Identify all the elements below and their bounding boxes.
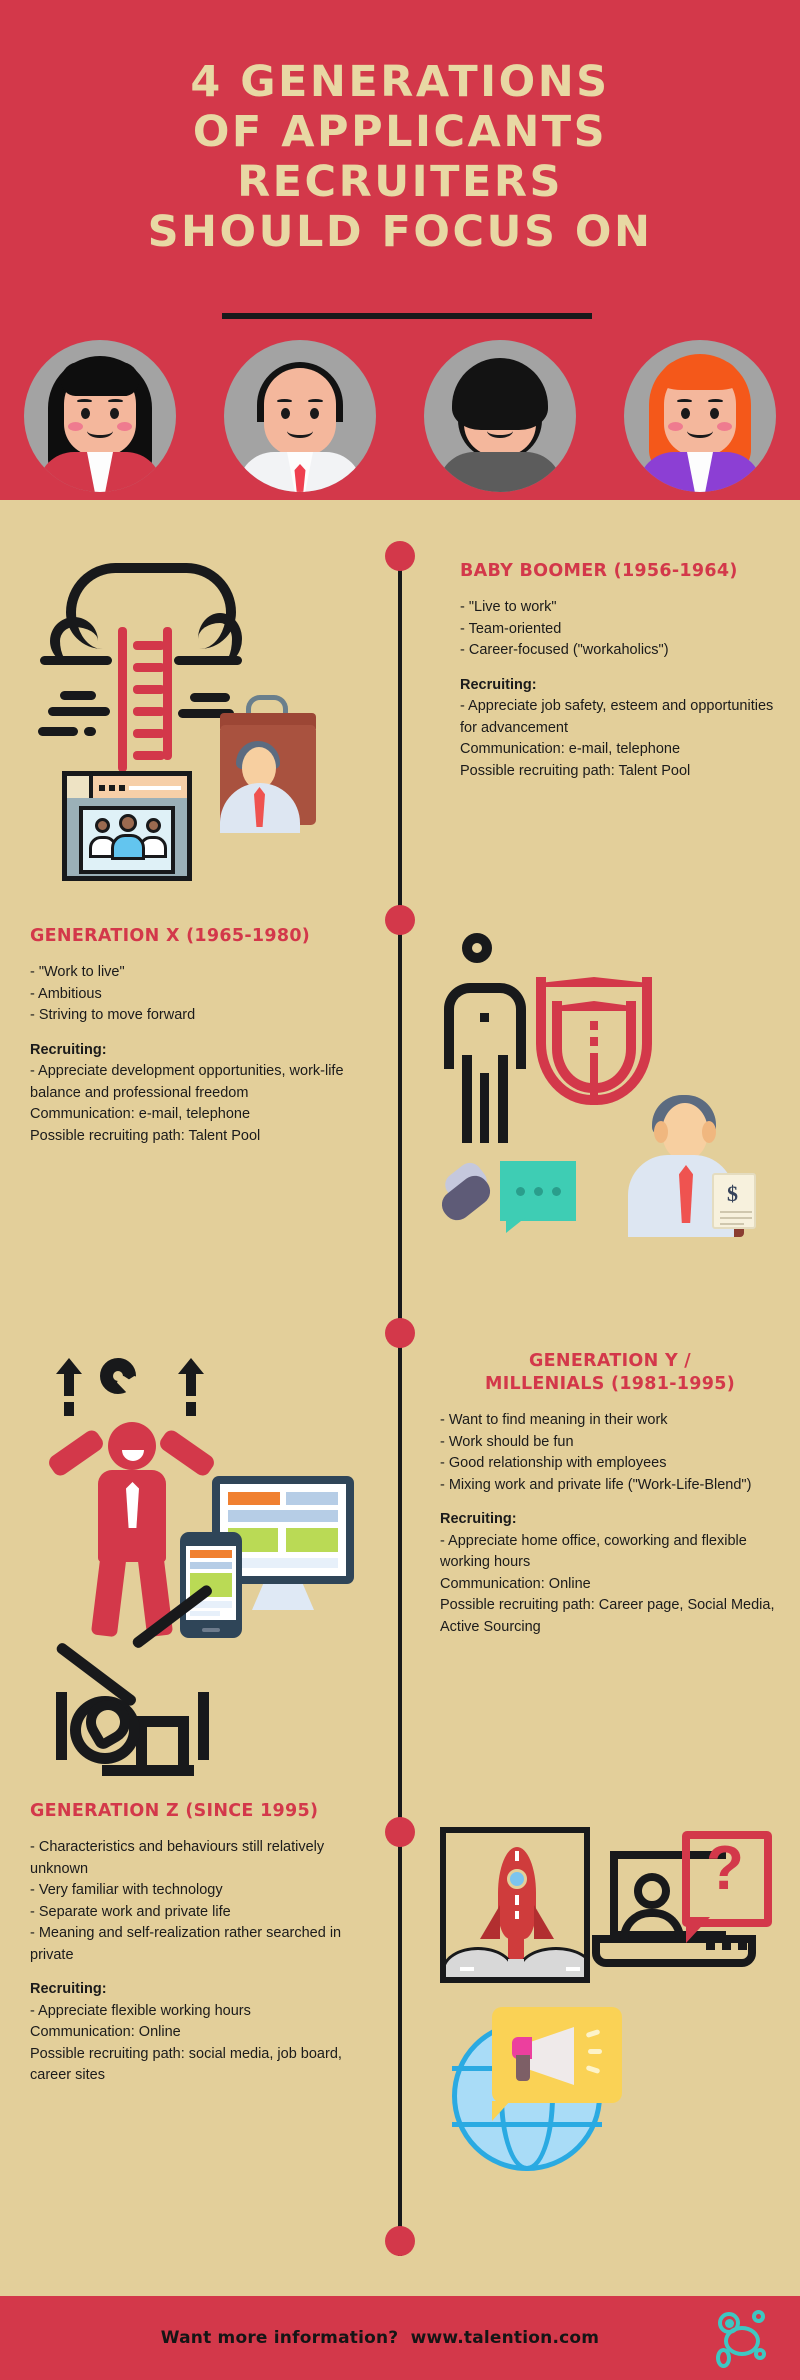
footer-url[interactable]: www.talention.com [411,2328,600,2348]
rocket-frame [440,1827,590,1983]
section-title-generation-y: GENERATION Y / MILLENIALS (1981-1995) [440,1350,780,1396]
person-shield-phone-chat-businessman-icon: $ [440,925,770,1255]
recruiting-item: Communication: Online [440,1574,780,1596]
trait-item: - Separate work and private life [30,1902,370,1924]
recruiting-item: Communication: e-mail, telephone [460,739,780,761]
eye-right-icon [710,408,719,419]
person-head-icon [95,818,110,833]
recruiting-item: - Appreciate job safety, esteem and oppo… [460,696,780,739]
spacer [30,1027,360,1040]
hair-fringe [61,362,139,396]
ladder-rung [133,641,165,650]
title-line-1: 4 GENERATIONS [0,57,800,107]
torso-shape [438,452,562,492]
screen-bar-blue [228,1510,338,1522]
arrow-up-stem-left [64,1374,74,1396]
rocket-fin-right [534,1905,554,1939]
smoke-trail [508,1959,524,1983]
avatar-bearded-man [424,340,576,492]
person-head-outline-icon [462,933,492,963]
blush-left [68,422,83,431]
phone-bar-blue [190,1562,232,1569]
trait-item: - Want to find meaning in their work [440,1410,780,1432]
user-avatar-head-icon [634,1873,670,1909]
recruiting-item: - Appreciate home office, coworking and … [440,1531,780,1574]
title-line-3: RECRUITERS [0,157,800,207]
recruiting-item: Communication: Online [30,2022,370,2044]
section-body-baby-boomer: - "Live to work" - Team-oriented - Caree… [460,597,780,782]
smile-icon [287,424,313,438]
shield-mark-dot [590,1021,598,1030]
screen-bar-orange [228,1492,280,1505]
rocket-stripe [515,1851,519,1861]
person-arm-left [46,1427,106,1478]
wind-line [84,727,96,736]
trait-item: - Meaning and self-realization rather se… [30,1923,370,1966]
heart-shape [117,1375,141,1397]
recruiting-label: Recruiting: [30,1981,107,1997]
window-content [79,806,175,874]
chat-dot [516,1187,525,1196]
footer-bar: Want more information? www.talention.com [0,2296,800,2380]
person-head [108,1422,156,1470]
recruiting-label: Recruiting: [460,677,537,693]
arrow-up-head-right [178,1358,204,1374]
ladder-rail-left [118,627,127,772]
ear-left [654,1121,668,1143]
section-body-generation-y: - Want to find meaning in their work - W… [440,1410,780,1638]
wind-line [48,707,110,716]
smartphone-icon [180,1532,242,1638]
shield-mark-dot [590,1037,598,1046]
hair-fringe [660,360,740,390]
avatar-woman-black-hair [24,340,176,492]
browser-dot [119,785,125,791]
eyebrow-left-icon [277,399,292,403]
eyebrow-right-icon [708,399,723,403]
recruiting-item: Communication: e-mail, telephone [30,1104,360,1126]
eyebrow-right-icon [108,399,123,403]
smoke-highlight [460,1967,474,1971]
trait-item: - "Work to live" [30,962,360,984]
person-body-icon [111,834,145,860]
phone-home-button [202,1628,220,1632]
eyebrow-left-icon [77,399,92,403]
rocket-window [507,1869,527,1889]
page-title: 4 GENERATIONS OF APPLICANTS RECRUITERS S… [0,57,800,257]
trait-item: - Striving to move forward [30,1005,360,1027]
footer-question: Want more information? [161,2328,399,2348]
logo-ring-bottom-left [716,2348,731,2368]
arrow-up-dash-left [64,1402,74,1416]
person-leg-middle [480,1073,489,1143]
shield-mark-bar [590,1053,598,1105]
house-wall-right [198,1692,209,1760]
recruiting-label: Recruiting: [440,1511,517,1527]
screen-bar-light [228,1558,338,1568]
section-title-generation-x: GENERATION X (1965-1980) [30,925,360,948]
smartphone-screen [186,1546,236,1620]
typing-dot [738,1941,747,1950]
recruiting-item: - Appreciate development opportunities, … [30,1061,360,1104]
recruiting-item: Possible recruiting path: social media, … [30,2044,370,2087]
smoke-highlight [566,1967,580,1971]
cloud-ladder-window-briefcase-icon [38,555,368,885]
megaphone-sound-ray [588,2049,602,2054]
avatar-row [0,340,800,500]
chat-dot [534,1187,543,1196]
wind-line [60,691,96,700]
house-floor [102,1765,194,1776]
person-head-icon [119,814,137,832]
ladder-rung [133,663,165,672]
ladder-rung [133,729,165,738]
timeline-node-generation-x [385,905,415,935]
house-door-top [136,1716,189,1727]
browser-tab [67,776,93,798]
hair-shape [452,358,548,430]
timeline-node-generation-z [385,1817,415,1847]
question-mark-icon: ? [706,1833,744,1904]
footer-text: Want more information? www.talention.com [0,2328,760,2348]
typing-dot [722,1941,731,1950]
megaphone-bubble-tail [492,2101,510,2121]
browser-url-line [129,786,181,790]
timeline-node-end [385,2226,415,2256]
ladder-rung [133,751,165,760]
eye-right-icon [310,408,319,419]
arrow-up-dash-right [186,1402,196,1416]
rocket-fin-left [480,1905,500,1939]
person-leg-left [91,1549,127,1638]
trait-item: - Work should be fun [440,1432,780,1454]
phone-bar-orange [190,1550,232,1558]
person-head-icon [146,818,161,833]
section-title-baby-boomer: BABY BOOMER (1956-1964) [460,560,780,583]
smoke-cloud-left [442,1947,514,1983]
eye-left-icon [81,408,90,419]
trait-item: - Team-oriented [460,619,780,641]
title-line-4: SHOULD FOCUS ON [0,207,800,257]
title-divider [222,313,592,319]
blush-left [668,422,683,431]
spacer [30,1966,370,1979]
cloud-edge-right [174,656,242,665]
spacer [460,662,780,675]
smile-icon [687,424,713,438]
ear-right [702,1121,716,1143]
person-arm-right [157,1427,217,1478]
monitor-stand [252,1584,314,1610]
title-line-2: OF APPLICANTS [0,107,800,157]
browser-dot [109,785,115,791]
house-wall-left [56,1692,67,1760]
recruiting-item: - Appreciate flexible working hours [30,2001,370,2023]
timeline-node-baby-boomer [385,541,415,571]
recruiting-item: Possible recruiting path: Talent Pool [30,1126,360,1148]
chat-dot [552,1187,561,1196]
arrow-up-head-left [56,1358,82,1374]
typing-dot [706,1941,715,1950]
section-title-line-1: GENERATION Y / [440,1350,780,1373]
section-title-generation-z: GENERATION Z (SINCE 1995) [30,1800,370,1823]
eyebrow-left-icon [677,399,692,403]
browser-dot [99,785,105,791]
blush-right [717,422,732,431]
section-generation-z: GENERATION Z (SINCE 1995) - Characterist… [30,1800,370,2087]
trait-item: - Career-focused ("workaholics") [460,640,780,662]
screen-bar-blue [286,1492,338,1505]
wind-line [38,727,78,736]
trait-item: - Mixing work and private life ("Work-Li… [440,1475,780,1497]
smile-icon [87,424,113,438]
person-leg-right [498,1055,508,1143]
spacer [440,1496,780,1509]
happy-person-monitor-smartphone-house-icon [30,1300,360,1720]
talention-logo[interactable] [716,2310,774,2370]
ladder-rung [133,685,165,694]
wind-line [190,693,230,702]
eye-left-icon [281,408,290,419]
trait-item: - Good relationship with employees [440,1453,780,1475]
recruiting-label: Recruiting: [30,1042,107,1058]
avatar-woman-red-hair [624,340,776,492]
dollar-document-icon: $ [712,1173,756,1229]
eye-right-icon [110,408,119,419]
blush-right [117,422,132,431]
browser-window-icon [62,771,192,881]
section-generation-x: GENERATION X (1965-1980) - "Work to live… [30,925,360,1147]
rocket-stripe [515,1911,519,1919]
logo-dot-center [725,2319,734,2328]
infographic-page: 4 GENERATIONS OF APPLICANTS RECRUITERS S… [0,0,800,2380]
person-leg-left [462,1055,472,1143]
logo-ring-top-right [752,2310,765,2323]
avatar-balding-man [224,340,376,492]
section-title-line-2: MILLENIALS (1981-1995) [440,1373,780,1396]
timeline-node-generation-y [385,1318,415,1348]
eyebrow-right-icon [308,399,323,403]
face-shape [264,368,336,456]
logo-ring-bottom-right [754,2348,766,2360]
trait-item: - "Live to work" [460,597,780,619]
section-body-generation-x: - "Work to live" - Ambitious - Striving … [30,962,360,1147]
person-button-dot [480,1013,489,1022]
person-body-outline-icon [444,983,526,1069]
section-baby-boomer: BABY BOOMER (1956-1964) - "Live to work"… [460,560,780,782]
cloud-edge-left [40,656,112,665]
section-body-generation-z: - Characteristics and behaviours still r… [30,1837,370,2087]
section-generation-y: GENERATION Y / MILLENIALS (1981-1995) - … [440,1350,780,1638]
arrow-up-stem-right [186,1374,196,1396]
rocket-stripe [515,1895,519,1905]
trait-item: - Characteristics and behaviours still r… [30,1837,370,1880]
ladder-rung [133,707,165,716]
eye-left-icon [681,408,690,419]
laptop-base [592,1935,756,1967]
trait-item: - Very familiar with technology [30,1880,370,1902]
screen-block-green [286,1528,338,1552]
rocket-laptop-question-globe-megaphone-icon: ? [430,1775,780,2255]
trait-item: - Ambitious [30,984,360,1006]
megaphone-handle [516,2055,530,2081]
recruiting-item: Possible recruiting path: Career page, S… [440,1595,780,1638]
phone-bar-light [190,1611,220,1616]
recruiting-item: Possible recruiting path: Talent Pool [460,761,780,783]
smoke-cloud-right [518,1947,590,1983]
timeline-spine [398,556,402,2256]
